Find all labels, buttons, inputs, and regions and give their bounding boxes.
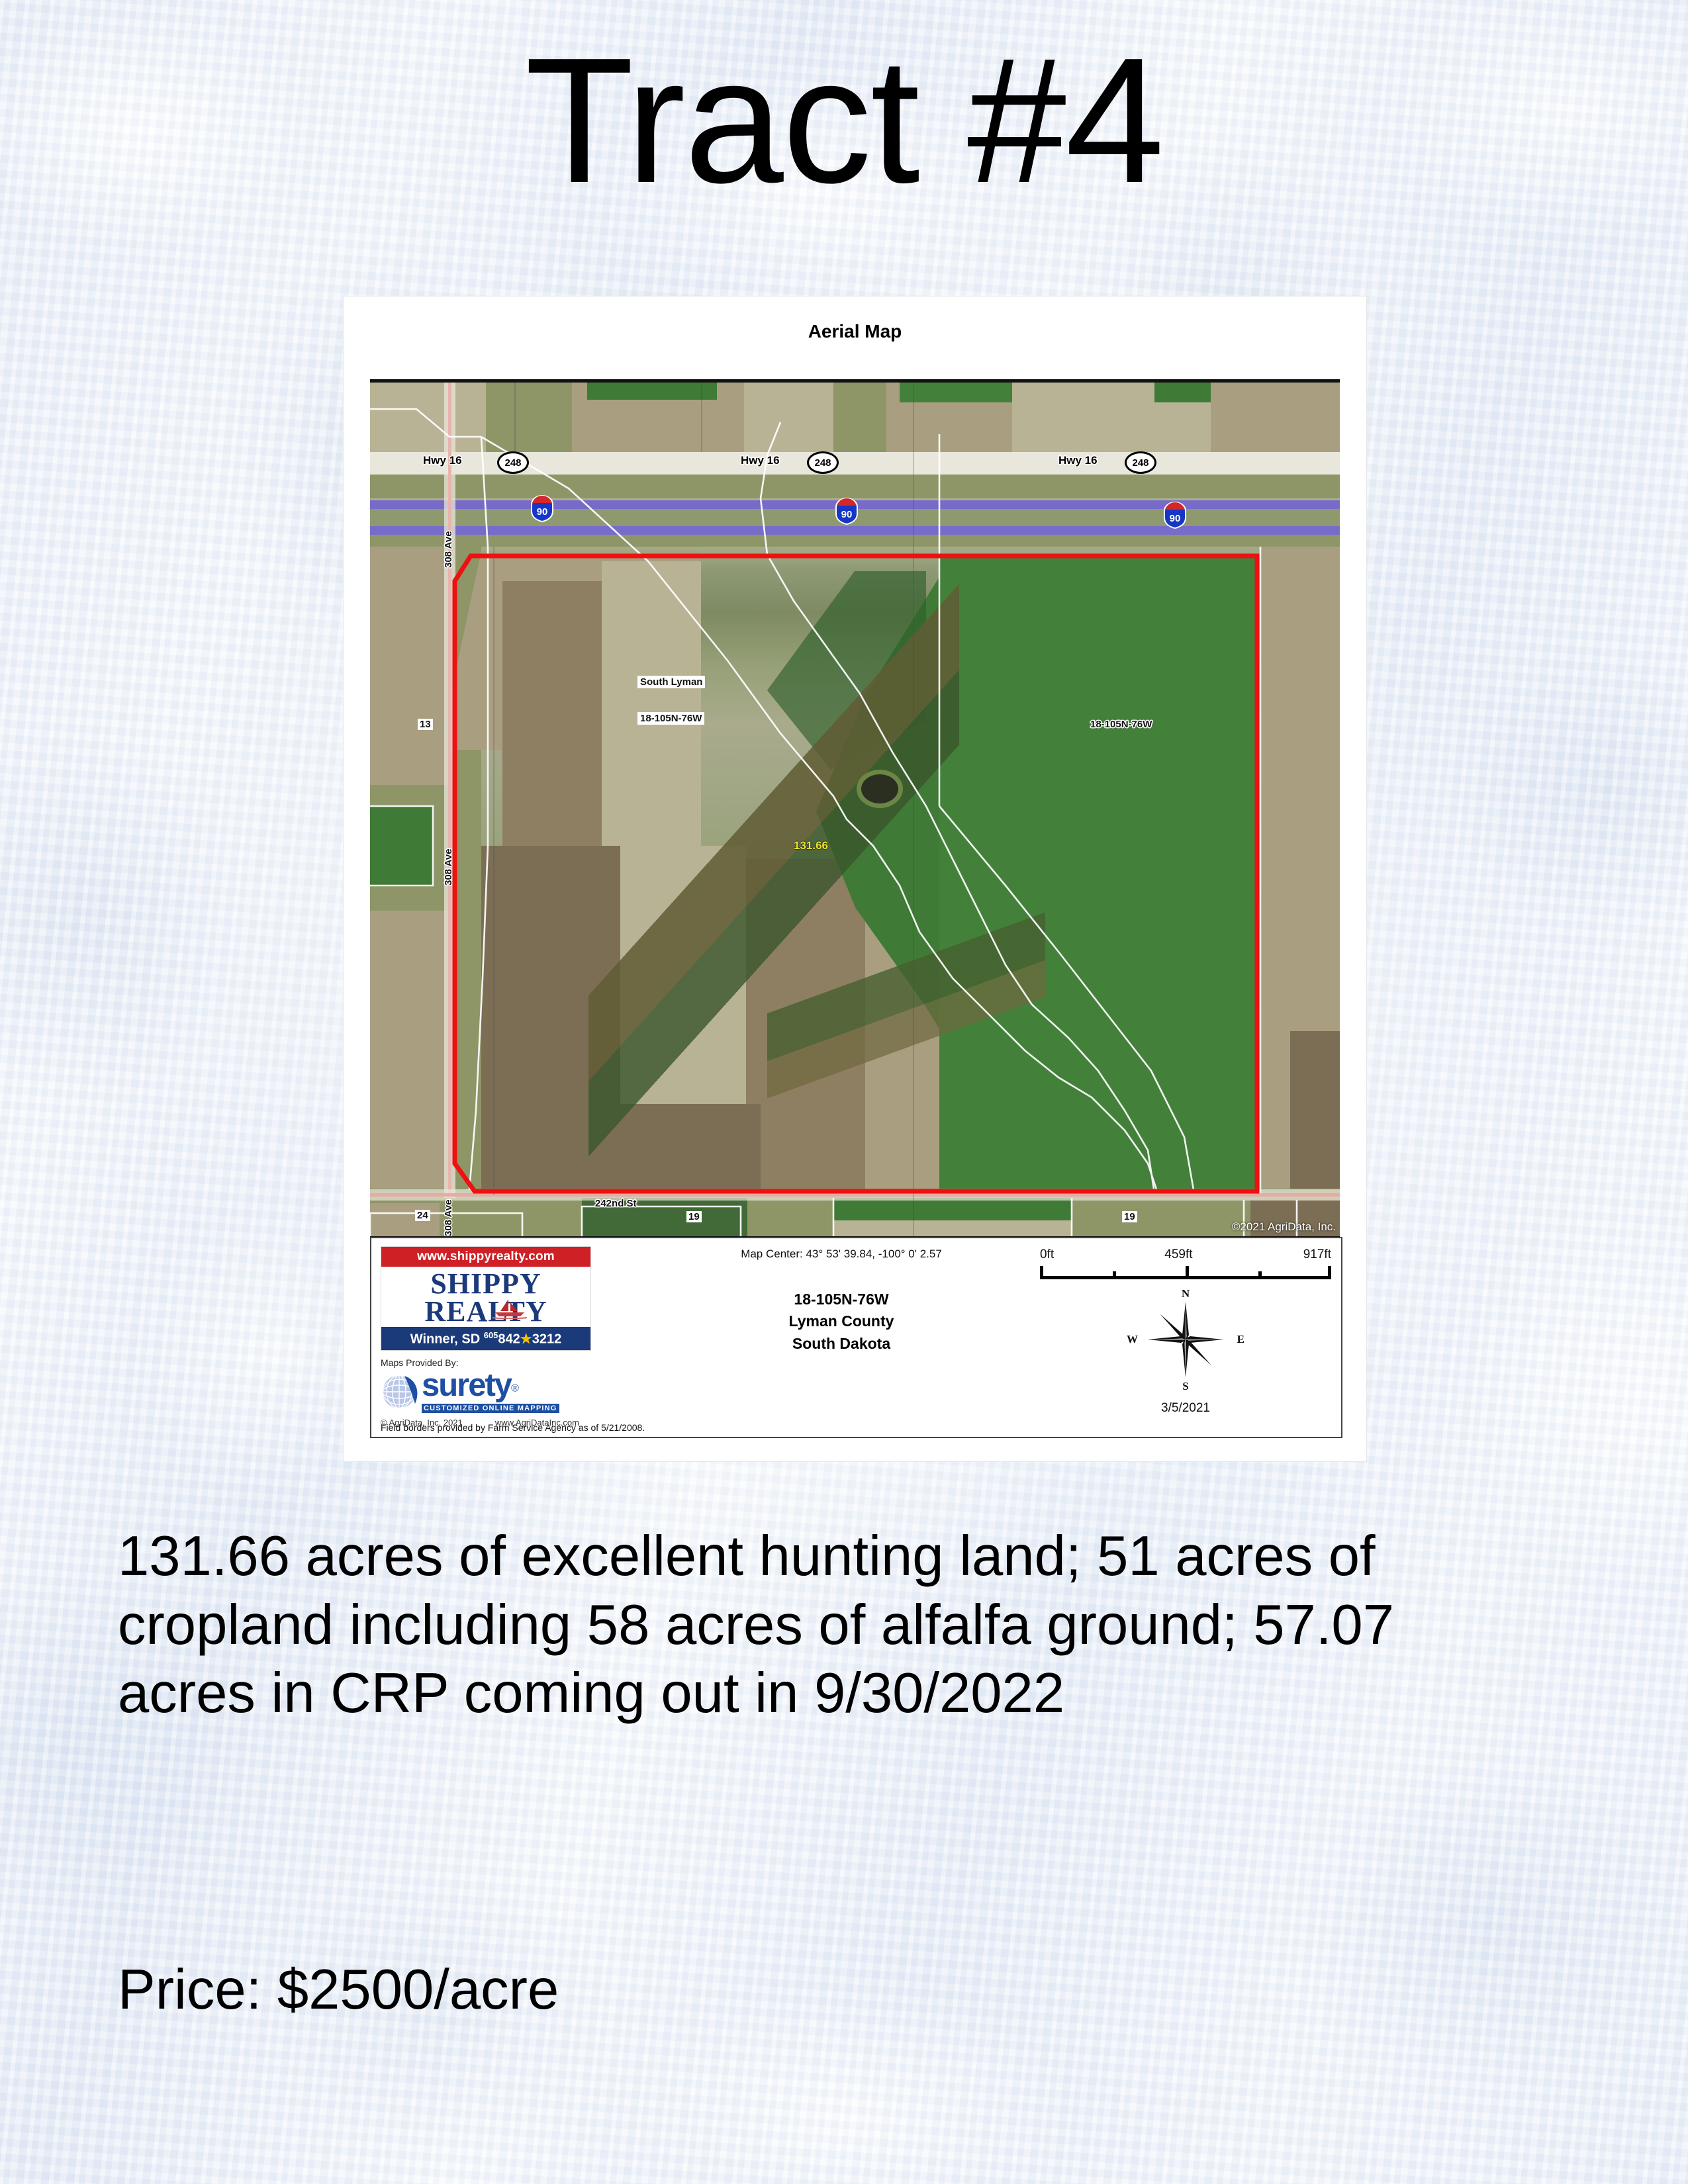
shippy-phone-last: 3212	[532, 1332, 562, 1346]
compass-east: E	[1237, 1333, 1244, 1346]
highway-16-label-1: Hwy 16	[423, 454, 462, 467]
svg-text:90: 90	[1170, 513, 1181, 524]
highway-shield-248-3: 248	[1125, 451, 1156, 474]
branding-block: www.shippyrealty.com SHIPPY REALTY Winne…	[381, 1246, 591, 1406]
surety-registered-mark: ®	[511, 1383, 519, 1394]
legal-line-3: South Dakota	[656, 1333, 1027, 1355]
tract-price: Price: $2500/acre	[118, 1956, 559, 2025]
map-copyright: ©2021 AgriData, Inc.	[1232, 1220, 1336, 1234]
map-label-308-ave-2: 308 Ave	[443, 848, 454, 886]
map-legal-description: 18-105N-76W Lyman County South Dakota	[656, 1289, 1027, 1355]
shippy-contact: Winner, SD 605842★3212	[381, 1327, 590, 1351]
legal-line-2: Lyman County	[656, 1310, 1027, 1332]
map-label-south-lyman: South Lyman	[637, 676, 705, 688]
map-label-308-ave-1: 308 Ave	[443, 531, 454, 568]
svg-text:90: 90	[537, 506, 548, 518]
sailboat-icon	[491, 1298, 528, 1319]
surety-wordmark: surety	[422, 1367, 511, 1403]
map-label-acreage: 131.66	[794, 839, 828, 852]
map-section-24: 24	[415, 1210, 430, 1221]
shippy-website: www.shippyrealty.com	[381, 1247, 590, 1267]
compass-rose-icon	[1136, 1290, 1235, 1389]
compass-rose: N S W E	[1136, 1290, 1235, 1389]
scale-bar	[1040, 1265, 1331, 1279]
fsa-disclaimer: Field borders provided by Farm Service A…	[381, 1422, 645, 1433]
page-title: Tract #4	[0, 32, 1688, 210]
interstate-90-shield-3: 90	[1162, 500, 1188, 529]
shippy-location: Winner, SD	[410, 1332, 480, 1346]
aerial-map-sheet: Aerial Map	[344, 296, 1366, 1461]
shippy-phone-area: 605	[484, 1330, 498, 1340]
highway-shield-248-1: 248	[497, 451, 529, 474]
compass-south: S	[1182, 1380, 1188, 1393]
aerial-photo: South Lyman 18-105N-76W 18-105N-76W 131.…	[370, 379, 1340, 1240]
highway-16-label-3: Hwy 16	[1058, 454, 1098, 467]
map-center-coordinates: Map Center: 43° 53' 39.84, -100° 0' 2.57	[656, 1248, 1027, 1261]
map-footer: www.shippyrealty.com SHIPPY REALTY Winne…	[370, 1237, 1342, 1438]
scale-label-mid: 459ft	[1164, 1248, 1192, 1262]
scale-label-0: 0ft	[1040, 1248, 1054, 1262]
maps-provided-by-label: Maps Provided By:	[381, 1357, 591, 1368]
map-date: 3/5/2021	[1040, 1401, 1331, 1416]
svg-text:90: 90	[841, 509, 853, 520]
shippy-phone-main: 842	[498, 1332, 520, 1346]
tract-description: 131.66 acres of excellent hunting land; …	[118, 1522, 1528, 1728]
map-label-308-ave-3: 308 Ave	[443, 1199, 454, 1236]
compass-west: W	[1127, 1333, 1138, 1346]
shippy-name: SHIPPY REALTY	[381, 1267, 590, 1327]
map-section-19a: 19	[686, 1211, 702, 1222]
shippy-name-line2: REALTY	[381, 1298, 590, 1326]
scale-and-compass-column: 0ft 459ft 917ft	[1040, 1248, 1331, 1279]
globe-icon	[381, 1372, 422, 1412]
legal-line-1: 18-105N-76W	[656, 1289, 1027, 1310]
surety-tagline: CUSTOMIZED ONLINE MAPPING	[422, 1404, 559, 1413]
shippy-realty-logo: www.shippyrealty.com SHIPPY REALTY Winne…	[381, 1246, 591, 1351]
map-label-legal-right: 18-105N-76W	[1090, 719, 1152, 730]
highway-shield-248-2: 248	[807, 451, 839, 474]
scale-labels: 0ft 459ft 917ft	[1040, 1248, 1331, 1265]
map-label-242nd-st: 242nd St	[595, 1198, 637, 1209]
scale-label-max: 917ft	[1303, 1248, 1331, 1262]
highway-16-label-2: Hwy 16	[741, 454, 780, 467]
map-section-19b: 19	[1122, 1211, 1137, 1222]
shippy-name-line1: SHIPPY	[381, 1270, 590, 1298]
map-label-legal-left: 18-105N-76W	[637, 712, 704, 725]
map-center-column: Map Center: 43° 53' 39.84, -100° 0' 2.57…	[656, 1248, 1027, 1355]
interstate-90-shield-2: 90	[833, 496, 860, 525]
map-heading: Aerial Map	[344, 321, 1366, 342]
surety-logo: surety® CUSTOMIZED ONLINE MAPPING	[381, 1369, 591, 1414]
compass-north: N	[1182, 1287, 1190, 1300]
map-section-13: 13	[418, 719, 433, 730]
interstate-90-shield-1: 90	[529, 494, 555, 523]
